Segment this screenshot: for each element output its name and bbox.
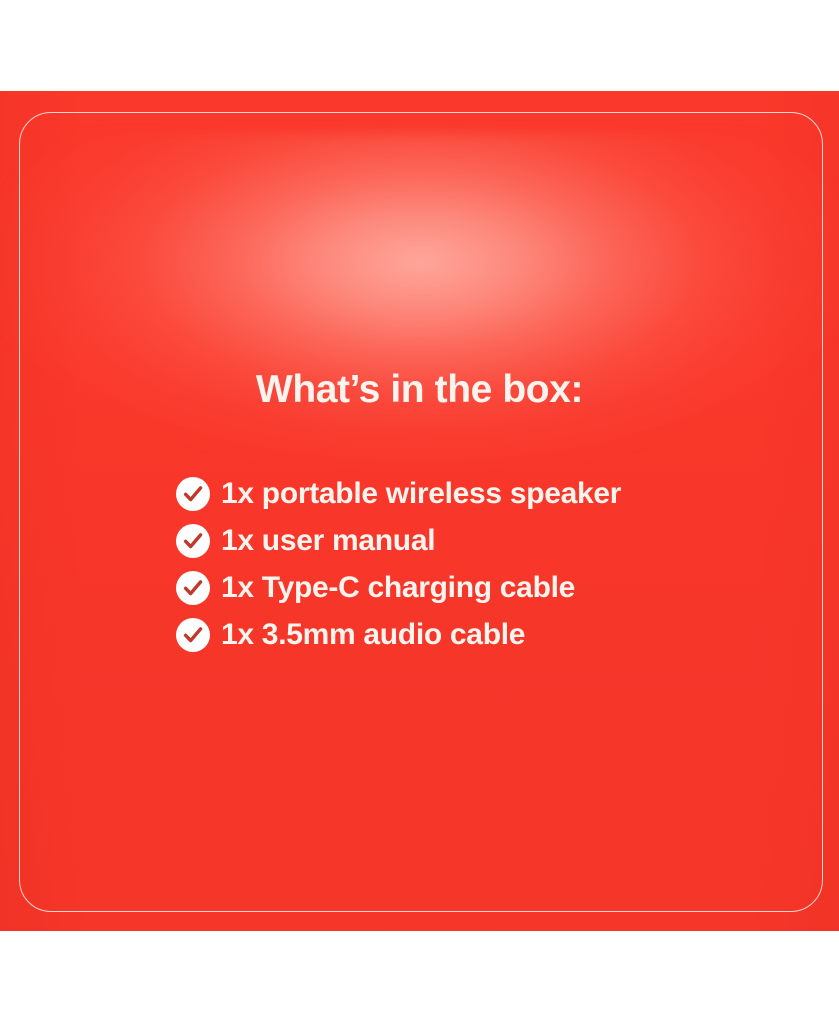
list-item: 1x portable wireless speaker [176,470,736,517]
check-circle-icon [176,571,210,605]
product-info-card: What’s in the box: 1x portable wireless … [0,0,839,1024]
list-item: 1x user manual [176,517,736,564]
list-item-label: 1x Type-C charging cable [221,573,575,603]
check-circle-icon [176,477,210,511]
page-title: What’s in the box: [0,368,839,412]
card-content: What’s in the box: 1x portable wireless … [0,0,839,1024]
check-circle-icon [176,618,210,652]
list-item-label: 1x portable wireless speaker [221,479,621,509]
check-circle-icon [176,524,210,558]
list-item: 1x 3.5mm audio cable [176,611,736,658]
box-contents-list: 1x portable wireless speaker 1x user man… [176,470,736,658]
list-item-label: 1x user manual [221,526,435,556]
list-item-label: 1x 3.5mm audio cable [221,620,525,650]
list-item: 1x Type-C charging cable [176,564,736,611]
